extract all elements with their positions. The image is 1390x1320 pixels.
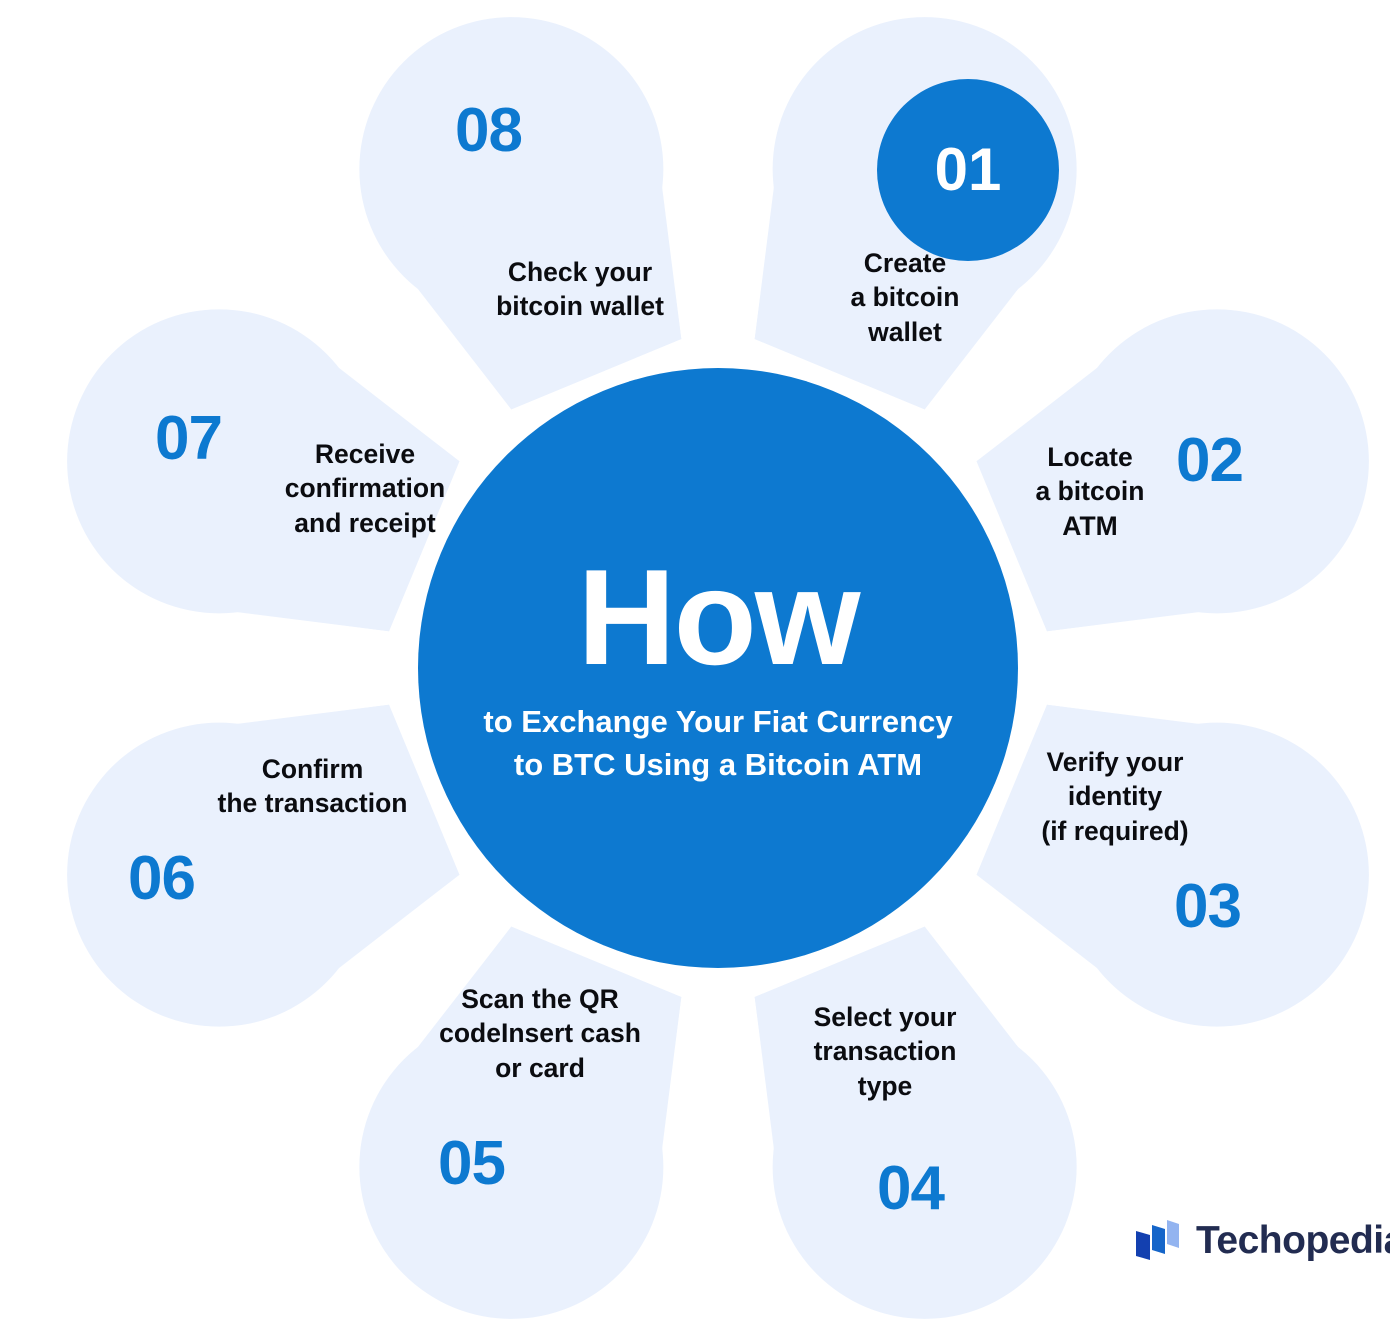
step-number-01[interactable]: 01: [877, 79, 1059, 261]
logo-wordmark: Techopedia: [1196, 1221, 1390, 1260]
step-number-04[interactable]: 04: [877, 1158, 944, 1220]
step-number-05[interactable]: 05: [438, 1133, 505, 1195]
step-number-08[interactable]: 08: [455, 100, 522, 162]
step-label-05: Scan the QR codeInsert cash or card: [410, 982, 670, 1085]
techopedia-logo[interactable]: Techopedia: [1133, 1218, 1390, 1262]
step-label-07: Receive confirmation and receipt: [240, 437, 490, 540]
step-number-06[interactable]: 06: [128, 848, 195, 910]
center-hub: How to Exchange Your Fiat Currency to BT…: [418, 368, 1018, 968]
step-label-02: Locate a bitcoin ATM: [1005, 440, 1175, 543]
hub-subheadline: to Exchange Your Fiat Currency to BTC Us…: [476, 701, 960, 787]
step-number-03[interactable]: 03: [1174, 876, 1241, 938]
techopedia-parallelograms-icon: [1133, 1218, 1183, 1262]
step-number-02[interactable]: 02: [1176, 430, 1243, 492]
step-number-07[interactable]: 07: [155, 408, 222, 470]
hub-headline: How: [577, 549, 858, 685]
step-label-01: Create a bitcoin wallet: [795, 246, 1015, 349]
infographic-canvas: How to Exchange Your Fiat Currency to BT…: [0, 0, 1390, 1320]
step-label-04: Select your transaction type: [790, 1000, 980, 1103]
step-label-08: Check your bitcoin wallet: [455, 255, 705, 324]
step-label-06: Confirm the transaction: [190, 752, 435, 821]
step-label-03: Verify your identity (if required): [1015, 745, 1215, 848]
